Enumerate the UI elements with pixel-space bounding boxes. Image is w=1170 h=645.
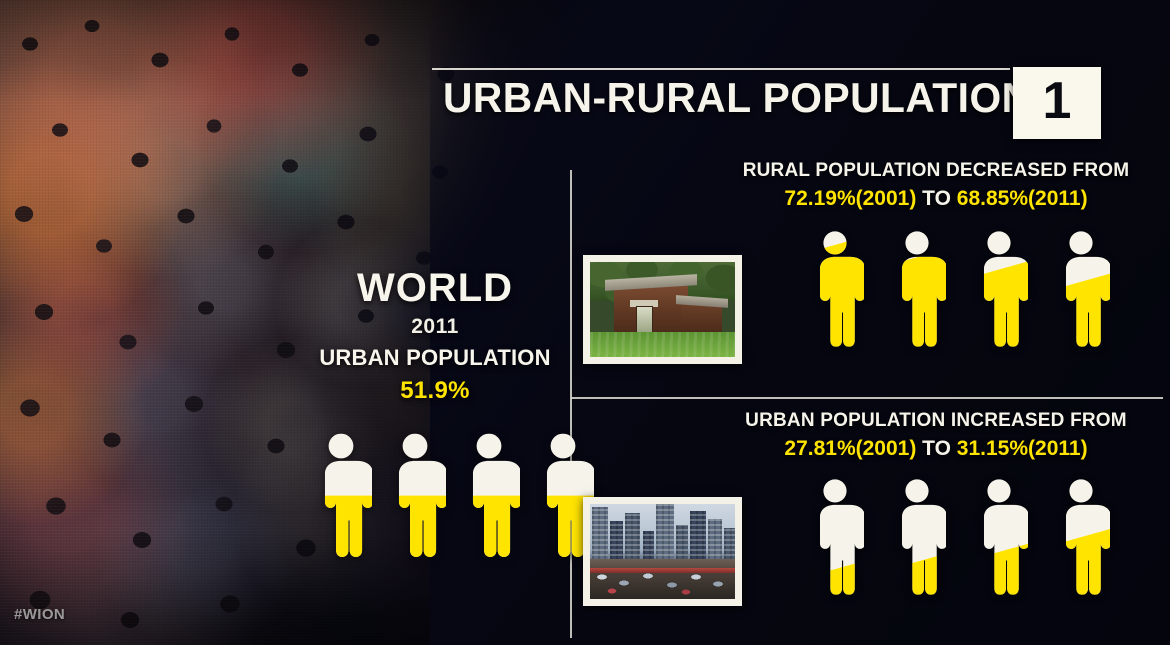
title-rule-divider: [432, 68, 1010, 70]
world-year: 2011: [300, 315, 570, 339]
watermark: #WION: [14, 606, 65, 623]
urban-photo-thumbnail: [583, 497, 742, 606]
rural-from-value: 72.19%(2001): [784, 187, 916, 210]
urban-section-heading: URBAN POPULATION INCREASED FROM 27.81%(2…: [735, 410, 1137, 461]
pictogram-person: [888, 230, 946, 355]
urban-traffic: [590, 571, 735, 597]
urban-heading-line2: 27.81%(2001) TO 31.15%(2011): [735, 437, 1137, 461]
horizontal-divider: [571, 397, 1163, 399]
urban-building: [610, 521, 623, 561]
world-pictogram-row: [310, 432, 594, 566]
pictogram-person: [458, 432, 520, 566]
rural-house-wing: [682, 304, 722, 334]
infographic-root: URBAN-RURAL POPULATION 1 WORLD 2011 URBA…: [0, 0, 1170, 645]
pictogram-person: [1052, 478, 1110, 603]
rural-connector: TO: [916, 187, 956, 210]
rural-heading-line2: 72.19%(2001) TO 68.85%(2011): [735, 187, 1137, 211]
world-metric-label: URBAN POPULATION: [300, 345, 570, 371]
rural-pictogram-row: [806, 230, 1110, 355]
urban-building: [676, 525, 688, 561]
rural-section-heading: RURAL POPULATION DECREASED FROM 72.19%(2…: [735, 160, 1137, 211]
urban-building: [643, 531, 654, 561]
pictogram-person: [1052, 230, 1110, 355]
rural-photo-thumbnail: [583, 255, 742, 364]
urban-from-value: 27.81%(2001): [784, 437, 916, 460]
rural-photo-image: [590, 262, 735, 357]
rural-field: [590, 332, 735, 357]
urban-building: [690, 511, 706, 561]
pictogram-person: [806, 230, 864, 355]
pictogram-person: [970, 478, 1028, 603]
title-number-badge: 1: [1013, 67, 1101, 139]
urban-building: [592, 507, 608, 561]
pictogram-person: [970, 230, 1028, 355]
urban-building: [724, 528, 735, 561]
pictogram-person: [888, 478, 946, 603]
rural-to-value: 68.85%(2011): [957, 187, 1088, 210]
urban-pictogram-row: [806, 478, 1110, 603]
urban-photo-image: [590, 504, 735, 599]
page-title: URBAN-RURAL POPULATION: [443, 74, 1032, 122]
pictogram-person: [310, 432, 372, 566]
urban-building: [656, 504, 674, 561]
world-title: WORLD: [300, 268, 570, 308]
title-badge-number: 1: [1043, 75, 1072, 127]
rural-door: [636, 306, 653, 334]
urban-heading-line1: URBAN POPULATION INCREASED FROM: [735, 410, 1137, 432]
world-stat-block: WORLD 2011 URBAN POPULATION 51.9%: [300, 268, 570, 405]
pictogram-person: [384, 432, 446, 566]
pictogram-person: [806, 478, 864, 603]
urban-building: [625, 513, 640, 561]
world-metric-value: 51.9%: [300, 377, 570, 405]
rural-heading-line1: RURAL POPULATION DECREASED FROM: [735, 160, 1137, 182]
vertical-divider: [570, 170, 572, 638]
urban-connector: TO: [916, 437, 956, 460]
urban-building: [708, 519, 722, 561]
urban-to-value: 31.15%(2011): [957, 437, 1088, 460]
